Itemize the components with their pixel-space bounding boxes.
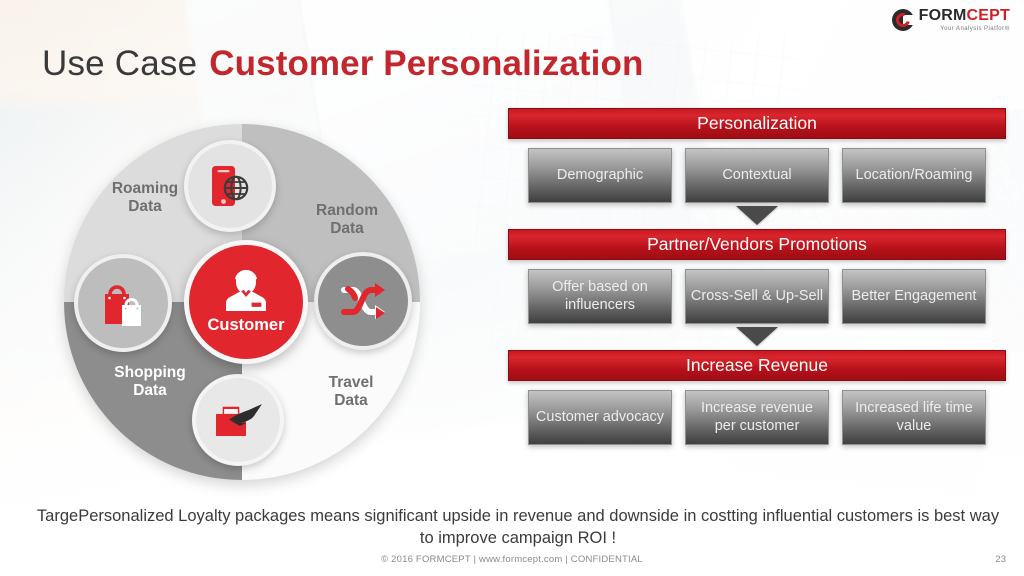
title-prefix: Use Case <box>42 44 197 83</box>
customer-data-circle-diagram: Roaming Data Random Data Shopping Data T… <box>64 124 420 480</box>
quadrant-label-shopping-line2: Data <box>133 382 167 399</box>
flow-boxes-personalization: Demographic Contextual Location/Roaming <box>508 148 1006 203</box>
footer-page-number: 23 <box>995 554 1006 565</box>
personalization-flow: Personalization Demographic Contextual L… <box>508 108 1006 445</box>
node-roaming <box>184 140 276 232</box>
quadrant-label-travel: Travel Data <box>296 374 406 411</box>
quadrant-label-random-line2: Data <box>330 220 364 237</box>
flow-group-partner-vendors-promotions: Partner/Vendors Promotions Offer based o… <box>508 229 1006 346</box>
logo-word-form: FORM <box>919 7 967 24</box>
slide-caption: TargePersonalized Loyalty packages means… <box>36 506 1000 550</box>
flow-box-offer-based-on-influencers[interactable]: Offer based on influencers <box>528 269 672 324</box>
quadrant-label-random: Random Data <box>292 202 402 239</box>
flow-box-location-roaming[interactable]: Location/Roaming <box>842 148 986 203</box>
quadrant-label-travel-line1: Travel <box>329 374 374 391</box>
flow-box-contextual[interactable]: Contextual <box>685 148 829 203</box>
node-shopping <box>74 254 172 352</box>
flow-box-cross-sell-up-sell[interactable]: Cross-Sell & Up-Sell <box>685 269 829 324</box>
slide-canvas: FORMCEPT Your Analysis Platform Use Case… <box>0 0 1024 576</box>
logo-word-cept: CEPT <box>967 7 1010 24</box>
slide-caption-line1: TargePersonalized Loyalty packages means… <box>37 507 913 525</box>
node-customer-label: Customer <box>207 316 284 335</box>
flow-boxes-increase-revenue: Customer advocacy Increase revenue per c… <box>508 390 1006 445</box>
quadrant-label-roaming-line1: Roaming <box>112 180 178 197</box>
quadrant-label-shopping: Shopping Data <box>92 364 208 401</box>
flow-arrow-down-2 <box>736 327 778 346</box>
shuffle-arrows-icon <box>334 275 392 327</box>
flow-box-increase-revenue-per-customer[interactable]: Increase revenue per customer <box>685 390 829 445</box>
formcept-logo: FORMCEPT Your Analysis Platform <box>892 8 1010 32</box>
suitcase-airplane-icon <box>210 396 266 444</box>
page-title: Use CaseCustomer Personalization <box>42 44 643 84</box>
shopping-bags-icon <box>95 277 151 329</box>
flow-box-demographic[interactable]: Demographic <box>528 148 672 203</box>
flow-header-partner-vendors-promotions: Partner/Vendors Promotions <box>508 229 1006 260</box>
title-highlight: Customer Personalization <box>209 44 643 83</box>
quadrant-label-random-line1: Random <box>316 202 378 219</box>
footer-copyright: © 2016 FORMCEPT | www.formcept.com | CON… <box>381 554 643 565</box>
person-with-badge-icon <box>220 269 272 313</box>
flow-header-personalization: Personalization <box>508 108 1006 139</box>
flow-header-increase-revenue: Increase Revenue <box>508 350 1006 381</box>
smartphone-globe-icon <box>203 159 257 213</box>
flow-group-personalization: Personalization Demographic Contextual L… <box>508 108 1006 225</box>
logo-tagline: Your Analysis Platform <box>919 26 1010 32</box>
node-travel <box>192 374 284 466</box>
node-customer: Customer <box>184 240 308 364</box>
flow-boxes-partner-vendors-promotions: Offer based on influencers Cross-Sell & … <box>508 269 1006 324</box>
flow-group-increase-revenue: Increase Revenue Customer advocacy Incre… <box>508 350 1006 445</box>
quadrant-label-shopping-line1: Shopping <box>114 364 185 381</box>
flow-box-increased-life-time-value[interactable]: Increased life time value <box>842 390 986 445</box>
quadrant-label-roaming-line2: Data <box>128 198 162 215</box>
node-random <box>314 252 412 350</box>
slide-footer: © 2016 FORMCEPT | www.formcept.com | CON… <box>0 554 1024 568</box>
flow-box-better-engagement[interactable]: Better Engagement <box>842 269 986 324</box>
flow-arrow-down-1 <box>736 206 778 225</box>
quadrant-label-travel-line2: Data <box>334 392 368 409</box>
formcept-e-mark-icon <box>892 9 914 31</box>
flow-box-customer-advocacy[interactable]: Customer advocacy <box>528 390 672 445</box>
